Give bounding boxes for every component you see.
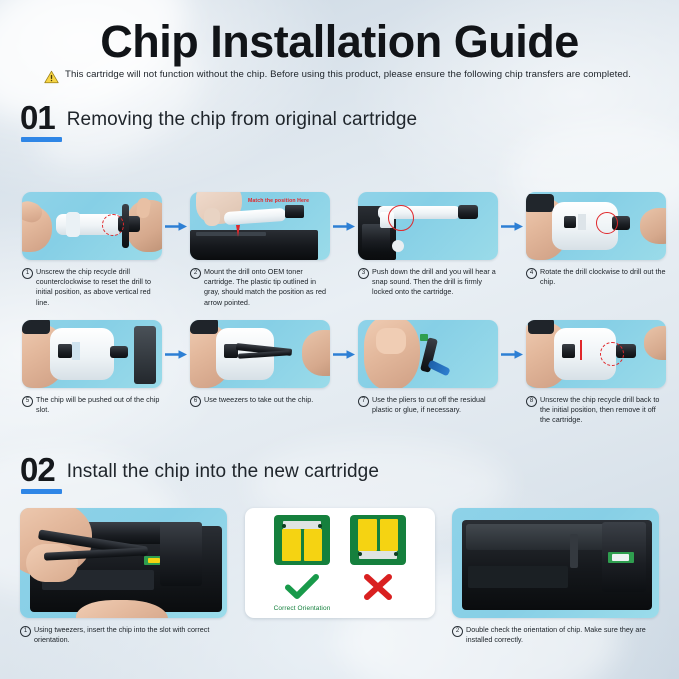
cross-mark-icon: [363, 571, 393, 603]
flow-arrow-icon: [162, 320, 190, 388]
install-caption-1: 1 Using tweezers, insert the chip into t…: [20, 625, 227, 645]
step-card-6: 6 Use tweezers to take out the chip.: [190, 320, 330, 407]
rotation-indicator: [596, 212, 618, 234]
step-caption-text: Rotate the drill clockwise to drill out …: [540, 267, 666, 287]
step-card-1: 1 Unscrew the chip recycle drill counter…: [22, 192, 162, 308]
hand-right: [644, 326, 666, 360]
install-step-card-2: 2 Double check the orientation of chip. …: [452, 508, 659, 645]
chip-notch: [283, 521, 321, 529]
step-card-5: 5 The chip will be pushed out of the chi…: [22, 320, 162, 415]
install-photo-2: [452, 508, 659, 618]
chip-orientation-card: Correct Orientation .: [245, 508, 435, 618]
red-reference-line: [580, 340, 582, 360]
cartridge-detail: [362, 224, 390, 252]
step-photo-3: [358, 192, 498, 260]
chip-correct-icon: [274, 515, 330, 565]
chip-pads: [358, 519, 398, 551]
step-photo-5: [22, 320, 162, 388]
step-caption-3: 3 Push down the drill and you will hear …: [358, 267, 498, 298]
chip-notch: [359, 551, 397, 559]
section-underline: [21, 489, 62, 494]
chip-being-pushed: [72, 342, 80, 360]
install-caption-2: 2 Double check the orientation of chip. …: [452, 625, 659, 645]
step-card-8: 8 Unscrew the chip recycle drill back to…: [526, 320, 666, 426]
cartridge-edge: [22, 320, 50, 334]
step-caption-text: Mount the drill onto OEM toner cartridge…: [204, 267, 330, 308]
flow-arrow-icon: [330, 320, 358, 388]
cartridge-body: [134, 326, 156, 384]
chip-pads: [282, 529, 322, 561]
section-number-wrap: 02: [20, 455, 55, 494]
correct-orientation-block: Correct Orientation: [274, 515, 331, 612]
finger: [204, 208, 220, 226]
chip-contact-dot: [394, 552, 398, 556]
step-card-7: 7 Use the pliers to cut off the residual…: [358, 320, 498, 415]
step-number-badge: 3: [358, 268, 369, 279]
chip-pad: [282, 529, 301, 561]
section-header-02: 02 Install the chip into the new cartrid…: [20, 455, 379, 494]
step-number-badge: 7: [358, 396, 369, 407]
step-number-badge: 1: [22, 268, 33, 279]
step-number-badge: 2: [190, 268, 201, 279]
cartridge-vent: [196, 232, 266, 236]
step-caption-text: Unscrew the chip recycle drill back to t…: [540, 395, 666, 426]
chip-holder: [160, 522, 202, 586]
step-photo-1: [22, 192, 162, 260]
section-header-01: 01 Removing the chip from original cartr…: [20, 103, 417, 142]
step-caption-text: Push down the drill and you will hear a …: [372, 267, 498, 298]
step-card-2: Match the position Here 2 Mount the dril…: [190, 192, 330, 308]
warning-text: This cartridge will not function without…: [65, 69, 631, 81]
cartridge-ridge: [468, 566, 568, 588]
step-caption-8: 8 Unscrew the chip recycle drill back to…: [526, 395, 666, 426]
hand-right: [302, 330, 330, 376]
section-underline: [21, 137, 62, 142]
thumb: [26, 544, 78, 582]
step-caption-text: Using tweezers, insert the chip into the…: [34, 625, 227, 645]
steps-row-2: 5 The chip will be pushed out of the chi…: [22, 320, 666, 426]
step-photo-8: [526, 320, 666, 388]
step-number-badge: 4: [526, 268, 537, 279]
step-photo-6: [190, 320, 330, 388]
step-number-badge: 1: [20, 626, 31, 637]
section-title: Removing the chip from original cartridg…: [67, 109, 417, 142]
warning-notice: This cartridge will not function without…: [44, 69, 659, 84]
chip-contact-dot: [318, 524, 322, 528]
flow-arrow-icon: [498, 320, 526, 388]
drill-slot: [564, 216, 576, 228]
drill-ridge: [66, 212, 80, 237]
section-number: 01: [20, 103, 55, 133]
drill-slot: [58, 344, 72, 358]
step-caption-text: Use the pliers to cut off the residual p…: [372, 395, 498, 415]
step-caption-5: 5 The chip will be pushed out of the chi…: [22, 395, 162, 415]
flow-arrow-icon: [498, 192, 526, 260]
step-card-3: 3 Push down the drill and you will hear …: [358, 192, 498, 298]
step-number-badge: 5: [22, 396, 33, 407]
match-position-annotation: Match the position Here: [248, 198, 309, 204]
step-photo-7: [358, 320, 498, 388]
step-caption-text: The chip will be pushed out of the chip …: [36, 395, 162, 415]
step-photo-2: Match the position Here: [190, 192, 330, 260]
install-photo-1: [20, 508, 227, 618]
thumb: [376, 328, 406, 354]
section-title: Install the chip into the new cartridge: [67, 461, 379, 494]
step-caption-1: 1 Unscrew the chip recycle drill counter…: [22, 267, 162, 308]
drill-slot: [562, 344, 575, 358]
step-number-badge: 2: [452, 626, 463, 637]
step-caption-6: 6 Use tweezers to take out the chip.: [190, 395, 330, 407]
step-caption-text: Use tweezers to take out the chip.: [204, 395, 313, 405]
chip-pads: [148, 558, 160, 563]
step-number-badge: 8: [526, 396, 537, 407]
chip-pads: [612, 554, 629, 561]
cartridge-edge: [528, 320, 554, 334]
drill-knob: [285, 205, 304, 218]
flow-arrow-icon: [330, 192, 358, 260]
chip-pad: [380, 519, 399, 551]
chip-incorrect-icon: [350, 515, 406, 565]
section-number-wrap: 01: [20, 103, 55, 142]
step-card-4: 4 Rotate the drill clockwise to drill ou…: [526, 192, 666, 287]
step-number-badge: 6: [190, 396, 201, 407]
rotation-indicator: [102, 214, 124, 236]
step-caption-text: Unscrew the chip recycle drill countercl…: [36, 267, 162, 308]
chip-pad: [304, 529, 323, 561]
cartridge-edge: [190, 320, 218, 334]
cartridge-edge: [526, 194, 554, 212]
cartridge-top: [466, 524, 616, 550]
section-number: 02: [20, 455, 55, 485]
chip-installation-guide-page: Chip Installation Guide This cartridge w…: [0, 0, 679, 679]
drill-detail: [578, 214, 586, 230]
cartridge-post: [570, 534, 578, 568]
rotation-indicator: [600, 342, 624, 366]
check-mark-icon: [285, 571, 319, 603]
gear-detail: [392, 240, 404, 252]
incorrect-orientation-block: .: [350, 515, 406, 612]
highlight-circle: [388, 205, 414, 231]
drill-knob: [458, 205, 478, 219]
steps-row-1: 1 Unscrew the chip recycle drill counter…: [22, 192, 666, 308]
warning-triangle-icon: [44, 70, 59, 84]
step-photo-4: [526, 192, 666, 260]
step-caption-2: 2 Mount the drill onto OEM toner cartrid…: [190, 267, 330, 308]
install-step-card-1: 1 Using tweezers, insert the chip into t…: [20, 508, 227, 645]
flow-arrow-icon: [162, 192, 190, 260]
step-caption-4: 4 Rotate the drill clockwise to drill ou…: [526, 267, 666, 287]
pliers-handle: [427, 360, 450, 377]
correct-orientation-label: Correct Orientation: [274, 605, 331, 612]
chip-contact-dot: [282, 524, 286, 528]
hand-right: [640, 208, 666, 244]
drill-knob: [110, 346, 128, 358]
step-caption-7: 7 Use the pliers to cut off the residual…: [358, 395, 498, 415]
step-caption-text: Double check the orientation of chip. Ma…: [466, 625, 659, 645]
page-title: Chip Installation Guide: [0, 16, 679, 68]
chip-pad: [358, 519, 377, 551]
